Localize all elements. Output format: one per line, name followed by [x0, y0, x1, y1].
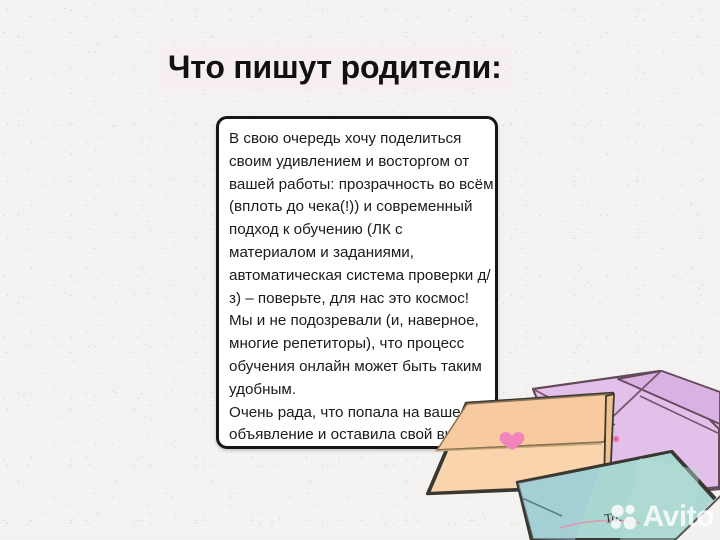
message-line: автоматическая система проверки д/ — [229, 265, 484, 288]
page-title-highlight: Что пишут родители: — [160, 46, 510, 90]
message-line: материалом и заданиями, — [229, 242, 484, 265]
message-line: на вас. — [229, 447, 484, 449]
message-line: Очень рада, что попала на ваше — [229, 402, 484, 425]
page-title: Что пишут родители: — [168, 48, 502, 86]
message-line: удобным. — [229, 379, 484, 402]
message-line: вашей работы: прозрачность во всём — [229, 174, 484, 197]
message-line: (вплоть до чека(!)) и современный — [229, 196, 484, 219]
screenshot-canvas: Что пишут родители: В свою очередь хочу … — [0, 0, 720, 540]
message-line: з) – поверьте, для нас это космос! — [229, 288, 484, 311]
avito-dots-icon — [608, 502, 638, 532]
message-line: подход к обучению (ЛК с — [229, 219, 484, 242]
message-line: объявление и оставила свой выбор — [229, 424, 484, 447]
message-line: своим удивлением и восторгом от — [229, 151, 484, 174]
testimonial-message-card: В свою очередь хочу поделиться своим уди… — [216, 116, 498, 449]
message-line: обучения онлайн может быть таким — [229, 356, 484, 379]
message-line: Мы и не подозревали (и, наверное, — [229, 310, 484, 333]
message-line: В свою очередь хочу поделиться — [229, 128, 484, 151]
message-line: многие репетиторы), что процесс — [229, 333, 484, 356]
message-text-body: В свою очередь хочу поделиться своим уди… — [219, 119, 495, 449]
avito-watermark: Avito — [608, 502, 714, 532]
avito-wordmark: Avito — [643, 502, 714, 532]
